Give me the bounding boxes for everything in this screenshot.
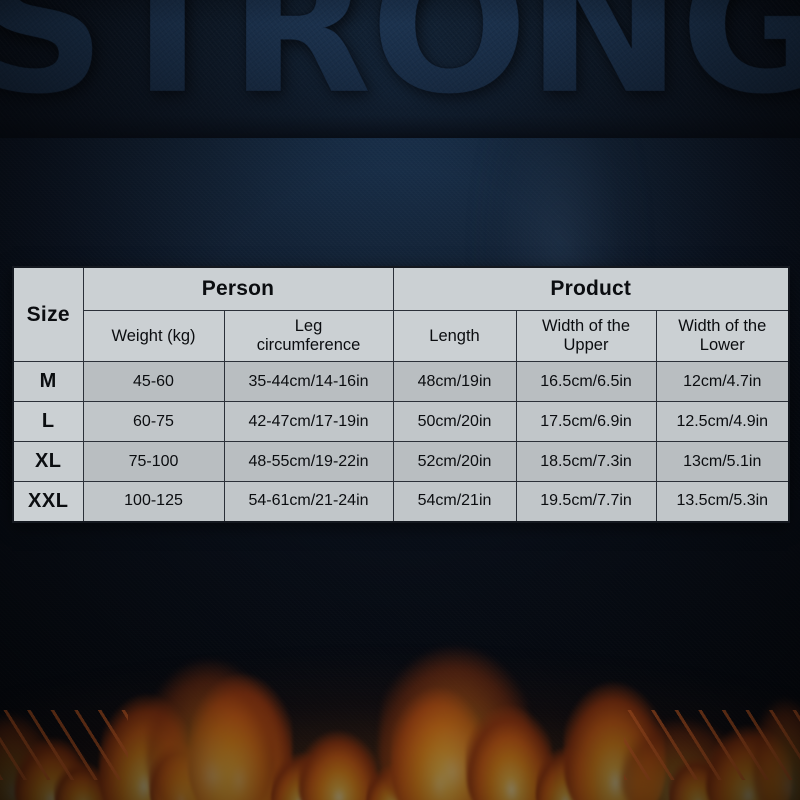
column-header-leg-line1: Leg [295,317,323,335]
cell-length: 52cm/20in [393,442,516,482]
product-size-chart-banner: STRONGER [0,0,800,800]
cell-size: L [13,402,83,442]
cell-size: XXL [13,482,83,522]
cell-width-upper: 18.5cm/7.3in [516,442,656,482]
cell-weight: 75-100 [83,442,224,482]
cell-width-lower: 12cm/4.7in [656,362,789,402]
table-row: XL75-10048-55cm/19-22in52cm/20in18.5cm/7… [13,442,789,482]
cell-size: M [13,362,83,402]
cell-leg-circumference: 48-55cm/19-22in [224,442,393,482]
size-chart-table: Size Person Product Weight (kg) Leg circ… [12,266,790,523]
cell-width-lower: 12.5cm/4.9in [656,402,789,442]
group-header-person: Person [83,267,393,311]
group-header-product: Product [393,267,789,311]
column-header-leg-circumference: Leg circumference [224,311,393,362]
column-header-upper-line2: Upper [564,336,609,354]
cell-leg-circumference: 54-61cm/21-24in [224,482,393,522]
cell-width-upper: 16.5cm/6.5in [516,362,656,402]
cell-length: 54cm/21in [393,482,516,522]
size-chart-table-container: Size Person Product Weight (kg) Leg circ… [12,266,788,523]
column-header-lower-line1: Width of the [678,317,766,335]
cell-weight: 100-125 [83,482,224,522]
cell-leg-circumference: 35-44cm/14-16in [224,362,393,402]
column-header-width-lower: Width of the Lower [656,311,789,362]
column-header-lower-line2: Lower [700,336,745,354]
cell-width-lower: 13cm/5.1in [656,442,789,482]
cell-length: 50cm/20in [393,402,516,442]
column-header-size: Size [13,267,83,362]
cell-width-lower: 13.5cm/5.3in [656,482,789,522]
size-chart-table-body: M45-6035-44cm/14-16in48cm/19in16.5cm/6.5… [13,362,789,522]
column-header-leg-line2: circumference [257,336,361,354]
size-chart-table-head: Size Person Product Weight (kg) Leg circ… [13,267,789,362]
table-row: L60-7542-47cm/17-19in50cm/20in17.5cm/6.9… [13,402,789,442]
column-header-weight-label: Weight (kg) [111,327,195,345]
column-header-upper-line1: Width of the [542,317,630,335]
cell-width-upper: 19.5cm/7.7in [516,482,656,522]
cell-length: 48cm/19in [393,362,516,402]
table-row: M45-6035-44cm/14-16in48cm/19in16.5cm/6.5… [13,362,789,402]
column-header-width-upper: Width of the Upper [516,311,656,362]
cell-weight: 60-75 [83,402,224,442]
column-header-length-label: Length [429,327,479,345]
cell-width-upper: 17.5cm/6.9in [516,402,656,442]
column-header-length: Length [393,311,516,362]
table-group-header-row: Size Person Product [13,267,789,311]
cell-leg-circumference: 42-47cm/17-19in [224,402,393,442]
cell-size: XL [13,442,83,482]
table-row: XXL100-12554-61cm/21-24in54cm/21in19.5cm… [13,482,789,522]
table-sub-header-row: Weight (kg) Leg circumference Length Wid… [13,311,789,362]
column-header-weight: Weight (kg) [83,311,224,362]
cell-weight: 45-60 [83,362,224,402]
